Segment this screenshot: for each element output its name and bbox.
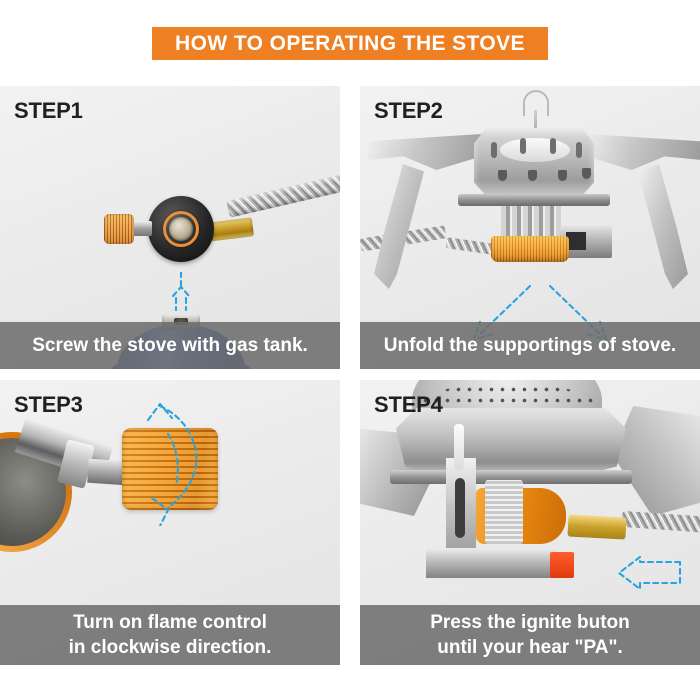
- brass-fitting-icon: [207, 217, 254, 241]
- step-panel-2[interactable]: STEP2 Unfold the supportings of stove.: [360, 86, 700, 369]
- control-knob-icon: [104, 214, 134, 244]
- step-caption-3: Turn on flame control in clockwise direc…: [0, 605, 340, 665]
- left-arrow-icon: [616, 556, 682, 590]
- valve-stem-icon: [485, 480, 523, 544]
- stove-leg-upper-left: [368, 134, 486, 170]
- burner-support-plate: [458, 194, 610, 206]
- header: HOW TO OPERATING THE STOVE: [0, 0, 700, 86]
- caption-line: Turn on flame control: [73, 610, 267, 635]
- step-label-4: STEP4: [374, 392, 443, 418]
- step-label-3: STEP3: [14, 392, 83, 418]
- step-panel-4[interactable]: STEP4 Press the ignite buton until your …: [360, 380, 700, 665]
- step-caption-4: Press the ignite buton until your hear "…: [360, 605, 700, 665]
- caption-line: Unfold the supportings of stove.: [384, 333, 676, 358]
- step-panel-1[interactable]: STEP1 Screw the stove with gas tank.: [0, 86, 340, 369]
- braided-hose-icon: [226, 172, 340, 218]
- step-label-1: STEP1: [14, 98, 83, 124]
- caption-line: until your hear "PA".: [437, 635, 623, 660]
- caption-line: in clockwise direction.: [69, 635, 272, 660]
- caption-line: Screw the stove with gas tank.: [32, 333, 308, 358]
- steps-grid: STEP1 Screw the stove with gas tank.: [0, 86, 700, 700]
- stove-leg-right: [612, 406, 700, 516]
- stove-leg-lower-left: [374, 164, 424, 289]
- igniter-bracket-foot: [426, 548, 556, 578]
- burner-inner-plate: [500, 138, 570, 162]
- step-caption-2: Unfold the supportings of stove.: [360, 322, 700, 369]
- header-title-bar: HOW TO OPERATING THE STOVE: [152, 27, 548, 60]
- ignite-button-icon[interactable]: [550, 552, 574, 578]
- page-title: HOW TO OPERATING THE STOVE: [175, 33, 525, 54]
- gold-knurled-base-icon: [491, 236, 569, 262]
- spark-electrode-icon: [454, 424, 464, 470]
- stove-leg-upper-right: [582, 134, 700, 170]
- caption-line: Press the ignite buton: [430, 610, 630, 635]
- step-panel-3[interactable]: STEP3 Turn on flame control in clockwise…: [0, 380, 340, 665]
- stove-leg-lower-right: [638, 164, 688, 289]
- burner-windguard-icon: [396, 408, 626, 476]
- step-label-2: STEP2: [374, 98, 443, 124]
- step-caption-1: Screw the stove with gas tank.: [0, 322, 340, 369]
- brass-fitting-icon: [567, 514, 626, 539]
- regulator-hub-icon: [169, 217, 193, 241]
- braided-hose-icon: [622, 511, 700, 533]
- down-arrow-icon: [170, 272, 192, 312]
- clockwise-rotation-arrow-icon: [130, 386, 220, 526]
